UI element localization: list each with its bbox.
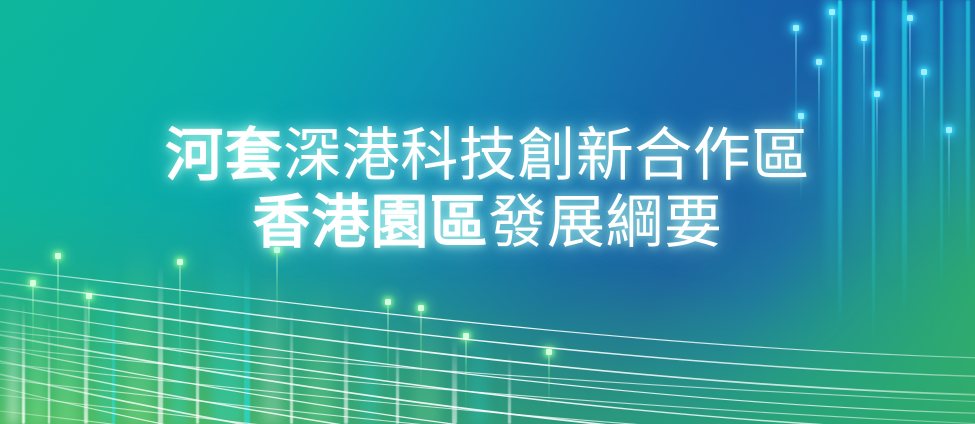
flow-line xyxy=(0,362,975,424)
light-beam xyxy=(470,318,488,424)
spark-tail xyxy=(549,352,550,410)
spark-dot-icon xyxy=(861,35,867,41)
spark-tail xyxy=(89,296,90,392)
light-beam xyxy=(84,276,88,424)
light-beam xyxy=(8,288,18,424)
spark-line xyxy=(177,262,183,372)
flow-line xyxy=(0,410,975,424)
spark-dot-icon xyxy=(921,69,927,75)
spark-dot-icon xyxy=(874,91,880,97)
spark-line xyxy=(385,302,391,394)
light-beam xyxy=(396,330,399,424)
light-beam xyxy=(290,306,293,424)
flow-line xyxy=(0,372,975,424)
spark-dot-icon xyxy=(385,299,391,305)
spark-dot-icon xyxy=(463,333,469,339)
light-beam xyxy=(48,316,50,424)
spark-tail xyxy=(58,256,59,376)
spark-dot-icon xyxy=(793,25,799,31)
spark-tail xyxy=(33,283,34,359)
page-title: 河套深港科技創新合作區 香港園區發展綱要 xyxy=(0,126,975,252)
flow-line xyxy=(0,378,975,424)
spark-line xyxy=(55,256,61,376)
headline-line-1-emphasis: 河套 xyxy=(165,123,283,188)
flow-line xyxy=(0,385,975,424)
spark-line xyxy=(463,336,469,410)
light-beam xyxy=(158,262,163,424)
spark-dot-icon xyxy=(798,113,804,119)
headline-line-1: 河套深港科技創新合作區 xyxy=(0,126,975,185)
headline-line-2-emphasis: 香港園區 xyxy=(252,190,488,255)
light-beam xyxy=(362,296,378,424)
spark-dot-icon xyxy=(86,293,92,299)
light-beam xyxy=(22,300,25,424)
light-beam xyxy=(344,316,348,424)
light-beam xyxy=(126,238,152,424)
spark-dot-icon xyxy=(829,9,835,15)
light-beam xyxy=(508,352,511,424)
flow-line xyxy=(0,320,975,424)
spark-line xyxy=(30,283,36,359)
spark-line xyxy=(418,308,424,392)
spark-tail xyxy=(421,308,422,392)
flow-line xyxy=(0,346,975,424)
light-beam xyxy=(56,268,78,424)
light-beam xyxy=(98,248,116,424)
light-beam xyxy=(30,256,46,424)
spark-tail xyxy=(466,336,467,410)
light-beam xyxy=(196,300,199,424)
spark-dot-icon xyxy=(546,349,552,355)
spark-line xyxy=(86,296,92,392)
light-beam xyxy=(262,272,282,424)
headline-line-2: 香港園區發展綱要 xyxy=(0,193,975,252)
spark-dot-icon xyxy=(55,253,61,259)
flow-line xyxy=(0,281,975,377)
light-beam xyxy=(172,286,186,424)
flow-line xyxy=(0,294,975,395)
spark-tail xyxy=(180,262,181,372)
spark-dot-icon xyxy=(816,59,822,65)
flow-line xyxy=(0,346,975,424)
spark-dot-icon xyxy=(907,15,913,21)
spark-dot-icon xyxy=(177,259,183,265)
flow-line xyxy=(0,330,975,402)
flow-line xyxy=(0,359,975,424)
spark-tail xyxy=(277,250,278,338)
spark-tail xyxy=(388,302,389,394)
light-beam xyxy=(212,232,242,424)
flow-line xyxy=(0,268,975,358)
light-beam xyxy=(244,252,250,424)
light-beam xyxy=(112,292,115,424)
light-beam xyxy=(414,304,440,424)
spark-line xyxy=(546,352,552,410)
hero-banner: 河套深港科技創新合作區 香港園區發展綱要 xyxy=(0,0,975,424)
light-beam xyxy=(308,282,332,424)
flow-line xyxy=(0,394,975,424)
spark-line xyxy=(274,250,280,338)
headline-line-2-rest: 發展綱要 xyxy=(489,190,723,255)
spark-dot-icon xyxy=(418,305,424,311)
flow-line xyxy=(0,333,975,424)
spark-dot-icon xyxy=(30,280,36,286)
headline-line-1-rest: 深港科技創新合作區 xyxy=(283,123,810,188)
light-beam xyxy=(452,338,457,424)
flow-line xyxy=(0,307,975,414)
